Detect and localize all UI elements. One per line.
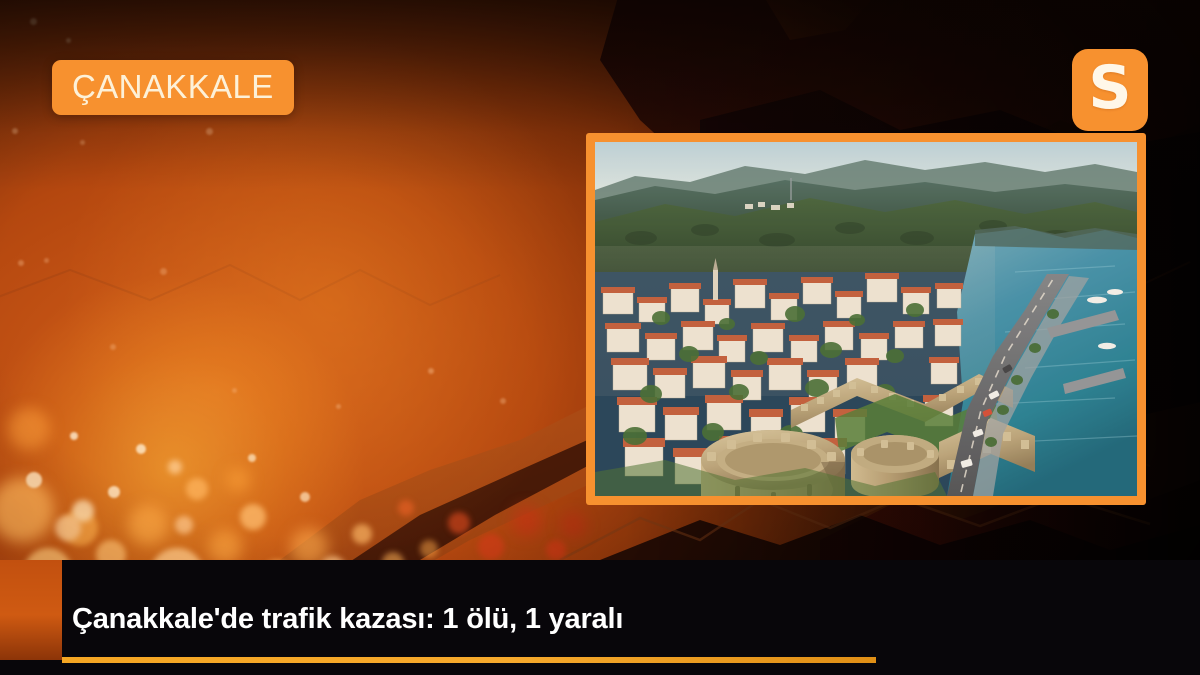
headline-underline-rule (62, 657, 876, 663)
headline-title: Çanakkale'de trafik kazası: 1 ölü, 1 yar… (72, 604, 623, 636)
photo-frame (595, 142, 1137, 496)
brand-logo-letter: S (1088, 58, 1131, 118)
brand-s-logo[interactable]: S (1072, 49, 1148, 131)
headline-left-accent (0, 560, 62, 660)
location-badge: ÇANAKKALE (52, 60, 294, 115)
photo-card[interactable] (586, 133, 1146, 505)
canakkale-aerial-photo (595, 142, 1137, 496)
news-card: ÇANAKKALE S (0, 0, 1200, 675)
location-badge-label: ÇANAKKALE (72, 68, 274, 105)
